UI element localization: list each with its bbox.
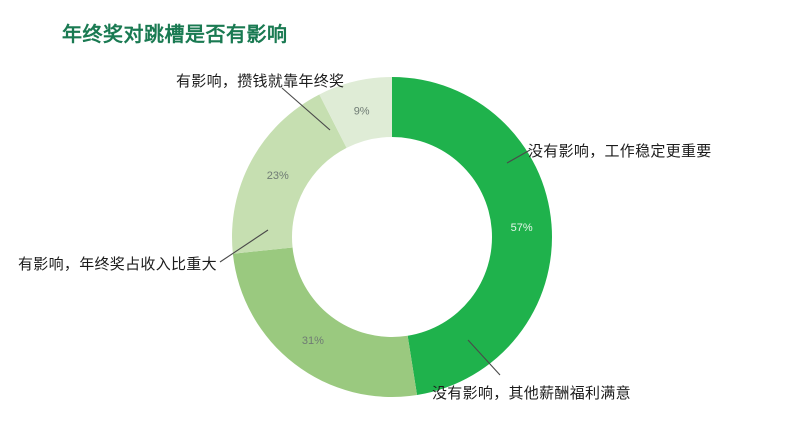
donut-value-label-3: 9% — [354, 106, 370, 118]
callout-label-top: 有影响，攒钱就靠年终奖 — [176, 70, 344, 91]
callout-label-right: 没有影响，工作稳定更重要 — [528, 140, 712, 161]
donut-value-label-2: 23% — [267, 170, 289, 182]
donut-value-label-1: 31% — [302, 335, 324, 347]
donut-slices — [232, 77, 552, 397]
donut-slice-0[interactable] — [392, 77, 552, 395]
callout-label-left: 有影响，年终奖占收入比重大 — [18, 253, 217, 274]
donut-slice-2[interactable] — [232, 94, 347, 253]
donut-value-label-0: 57% — [511, 222, 533, 234]
donut-slice-1[interactable] — [233, 247, 417, 397]
donut-chart: 57% 31% 23% 9% — [0, 0, 788, 435]
callout-label-bottom: 没有影响，其他薪酬福利满意 — [432, 382, 631, 403]
donut-chart-svg: 57% 31% 23% 9% — [0, 0, 788, 435]
